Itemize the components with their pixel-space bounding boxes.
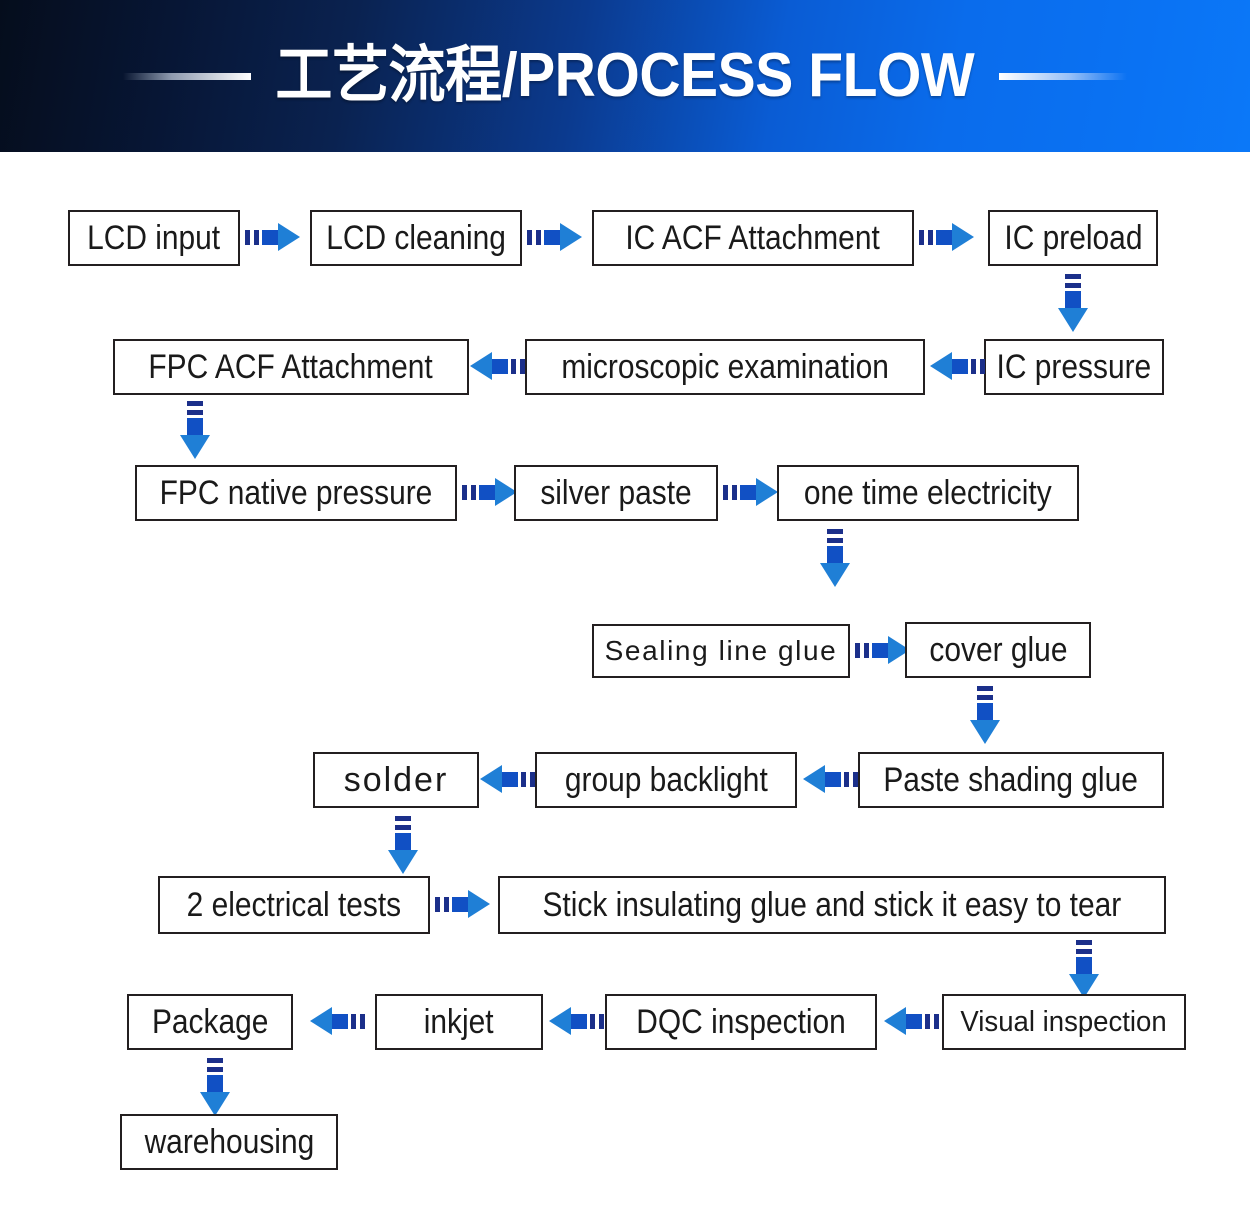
arrow-dash-icon	[1076, 949, 1092, 954]
arrow-dash-icon	[527, 230, 532, 245]
node-package[interactable]: Package	[127, 994, 293, 1050]
header-banner: 工艺流程/PROCESS FLOW	[0, 0, 1250, 152]
node-fpc-acf-attachment[interactable]: FPC ACF Attachment	[113, 339, 469, 395]
arrow-dash-icon	[864, 643, 869, 658]
header-rule-right-icon	[999, 73, 1127, 80]
node-lcd-input[interactable]: LCD input	[68, 210, 240, 266]
arrow-dash-icon	[977, 695, 993, 700]
arrow-dash-icon	[245, 230, 250, 245]
node-lcd-cleaning[interactable]: LCD cleaning	[310, 210, 522, 266]
arrow-shaft-icon	[936, 230, 952, 245]
arrow-dash-icon	[827, 538, 843, 543]
node-label: FPC native pressure	[160, 476, 433, 510]
arrow-dash-icon	[520, 359, 525, 374]
arrow-shaft-icon	[977, 703, 993, 720]
node-label: LCD cleaning	[326, 221, 506, 255]
node-label: Stick insulating glue and stick it easy …	[543, 888, 1122, 922]
arrow-lcd-input-to-lcd-cleaning	[245, 223, 300, 251]
arrow-head-icon	[930, 352, 952, 380]
node-silver-paste[interactable]: silver paste	[514, 465, 718, 521]
node-cover-glue[interactable]: cover glue	[905, 622, 1091, 678]
arrow-dash-icon	[977, 686, 993, 691]
arrow-shaft-icon	[571, 1014, 587, 1029]
arrow-cover-glue-to-paste-shading-glue	[970, 686, 1000, 744]
arrow-head-icon	[560, 223, 582, 251]
node-paste-shading-glue[interactable]: Paste shading glue	[858, 752, 1164, 808]
node-group-backlight[interactable]: group backlight	[535, 752, 797, 808]
header-rule-left-icon	[123, 73, 251, 80]
arrow-head-icon	[952, 223, 974, 251]
arrow-dash-icon	[435, 897, 440, 912]
arrow-package-to-warehousing	[200, 1058, 230, 1116]
node-warehousing[interactable]: warehousing	[120, 1114, 338, 1170]
node-one-time-electricity[interactable]: one time electricity	[777, 465, 1079, 521]
arrow-shaft-icon	[872, 643, 888, 658]
arrow-shaft-icon	[906, 1014, 922, 1029]
node-microscopic-examination[interactable]: microscopic examination	[525, 339, 925, 395]
arrow-dash-icon	[360, 1014, 365, 1029]
arrow-head-icon	[803, 765, 825, 793]
node-label: LCD input	[87, 221, 220, 255]
arrow-dash-icon	[444, 897, 449, 912]
arrow-dash-icon	[187, 410, 203, 415]
arrow-dash-icon	[853, 772, 858, 787]
node-solder[interactable]: solder	[313, 752, 479, 808]
arrow-shaft-icon	[544, 230, 560, 245]
node-label: Paste shading glue	[884, 763, 1139, 797]
node-label: warehousing	[144, 1125, 314, 1159]
arrow-dash-icon	[855, 643, 860, 658]
arrow-head-icon	[820, 563, 850, 587]
arrow-head-icon	[310, 1007, 332, 1035]
node-2-electrical-tests[interactable]: 2 electrical tests	[158, 876, 430, 934]
arrow-head-icon	[278, 223, 300, 251]
node-label: cover glue	[929, 633, 1067, 667]
arrow-dash-icon	[351, 1014, 356, 1029]
node-sealing-line-glue[interactable]: Sealing line glue	[592, 624, 850, 678]
arrow-shaft-icon	[952, 359, 968, 374]
arrow-head-icon	[884, 1007, 906, 1035]
process-flow-page: 工艺流程/PROCESS FLOW LCD input LCD cleaning…	[0, 0, 1250, 1226]
arrow-shaft-icon	[479, 485, 495, 500]
arrow-dash-icon	[980, 359, 985, 374]
arrow-silver-paste-to-one-time-electricity	[723, 478, 778, 506]
arrow-paste-shading-glue-to-group-backlight	[803, 765, 858, 793]
node-label: IC preload	[1004, 221, 1142, 255]
node-label: Sealing line glue	[605, 637, 838, 665]
node-label: inkjet	[424, 1005, 494, 1039]
node-label: FPC ACF Attachment	[149, 350, 433, 384]
arrow-dash-icon	[395, 825, 411, 830]
arrow-dash-icon	[471, 485, 476, 500]
node-ic-preload[interactable]: IC preload	[988, 210, 1158, 266]
arrow-head-icon	[388, 850, 418, 874]
arrow-visual-inspection-to-dqc-inspection	[884, 1007, 939, 1035]
arrow-shaft-icon	[502, 772, 518, 787]
arrow-inkjet-to-package	[310, 1007, 365, 1035]
arrow-shaft-icon	[1076, 957, 1092, 974]
node-label: 2 electrical tests	[187, 888, 402, 922]
arrow-dash-icon	[599, 1014, 604, 1029]
arrow-dash-icon	[207, 1067, 223, 1072]
arrow-ic-pressure-to-microscopic-examination	[930, 352, 985, 380]
arrow-head-icon	[970, 720, 1000, 744]
arrow-head-icon	[1058, 308, 1088, 332]
node-ic-pressure[interactable]: IC pressure	[984, 339, 1164, 395]
arrow-shaft-icon	[492, 359, 508, 374]
arrow-shaft-icon	[825, 772, 841, 787]
node-label: solder	[344, 763, 449, 797]
node-label: Package	[152, 1005, 268, 1039]
arrow-dash-icon	[511, 359, 516, 374]
arrow-dash-icon	[827, 529, 843, 534]
arrow-dash-icon	[723, 485, 728, 500]
arrow-shaft-icon	[452, 897, 468, 912]
node-label: DQC inspection	[636, 1005, 846, 1039]
arrow-dash-icon	[1065, 283, 1081, 288]
arrow-shaft-icon	[395, 833, 411, 850]
node-label: silver paste	[540, 476, 691, 510]
arrow-fpc-acf-attachment-to-fpc-native-pressure	[180, 401, 210, 459]
arrow-dash-icon	[844, 772, 849, 787]
arrow-shaft-icon	[1065, 291, 1081, 308]
node-label: one time electricity	[804, 476, 1052, 510]
node-visual-inspection[interactable]: Visual inspection	[942, 994, 1186, 1050]
arrow-head-icon	[200, 1092, 230, 1116]
arrow-head-icon	[756, 478, 778, 506]
node-stick-insulating-glue[interactable]: Stick insulating glue and stick it easy …	[498, 876, 1166, 934]
arrow-dash-icon	[732, 485, 737, 500]
arrow-dash-icon	[207, 1058, 223, 1063]
arrow-dash-icon	[928, 230, 933, 245]
arrow-fpc-native-pressure-to-silver-paste	[462, 478, 517, 506]
arrow-one-time-electricity-to-sealing-line-glue	[820, 529, 850, 587]
arrow-dash-icon	[1076, 940, 1092, 945]
arrow-dash-icon	[925, 1014, 930, 1029]
node-label: microscopic examination	[561, 350, 889, 384]
arrow-shaft-icon	[262, 230, 278, 245]
arrow-dqc-inspection-to-inkjet	[549, 1007, 604, 1035]
arrow-lcd-cleaning-to-ic-acf-attachment	[527, 223, 582, 251]
arrow-group-backlight-to-solder	[480, 765, 535, 793]
arrow-dash-icon	[536, 230, 541, 245]
node-dqc-inspection[interactable]: DQC inspection	[605, 994, 877, 1050]
arrow-shaft-icon	[207, 1075, 223, 1092]
arrow-head-icon	[480, 765, 502, 793]
arrow-shaft-icon	[827, 546, 843, 563]
arrow-sealing-line-glue-to-cover-glue	[855, 636, 910, 664]
arrow-dash-icon	[1065, 274, 1081, 279]
arrow-dash-icon	[934, 1014, 939, 1029]
node-label: IC pressure	[997, 350, 1152, 384]
arrow-head-icon	[549, 1007, 571, 1035]
arrow-head-icon	[470, 352, 492, 380]
arrow-dash-icon	[530, 772, 535, 787]
node-label: group backlight	[565, 763, 768, 797]
node-label: IC ACF Attachment	[626, 221, 880, 255]
arrow-dash-icon	[919, 230, 924, 245]
arrow-microscopic-examination-to-fpc-acf-attachment	[470, 352, 525, 380]
arrow-shaft-icon	[332, 1014, 348, 1029]
arrow-shaft-icon	[187, 418, 203, 435]
node-label: Visual inspection	[961, 1008, 1167, 1037]
arrow-ic-acf-attachment-to-ic-preload	[919, 223, 974, 251]
arrow-dash-icon	[462, 485, 467, 500]
arrow-head-icon	[180, 435, 210, 459]
arrow-head-icon	[468, 890, 490, 918]
node-fpc-native-pressure[interactable]: FPC native pressure	[135, 465, 457, 521]
page-title: 工艺流程/PROCESS FLOW	[276, 45, 975, 107]
arrow-ic-preload-to-ic-pressure	[1058, 274, 1088, 332]
node-inkjet[interactable]: inkjet	[375, 994, 543, 1050]
arrow-shaft-icon	[740, 485, 756, 500]
arrow-dash-icon	[187, 401, 203, 406]
header-banner-content: 工艺流程/PROCESS FLOW	[0, 0, 1250, 152]
arrow-dash-icon	[254, 230, 259, 245]
node-ic-acf-attachment[interactable]: IC ACF Attachment	[592, 210, 914, 266]
arrow-solder-to-2-electrical-tests	[388, 816, 418, 874]
arrow-2-electrical-tests-to-stick-insulating-glue	[435, 890, 490, 918]
arrow-dash-icon	[395, 816, 411, 821]
arrow-dash-icon	[521, 772, 526, 787]
arrow-dash-icon	[971, 359, 976, 374]
arrow-stick-insulating-glue-to-visual-inspection	[1069, 940, 1099, 998]
flow-canvas: LCD input LCD cleaning IC ACF Attachment	[0, 152, 1250, 1226]
arrow-dash-icon	[590, 1014, 595, 1029]
